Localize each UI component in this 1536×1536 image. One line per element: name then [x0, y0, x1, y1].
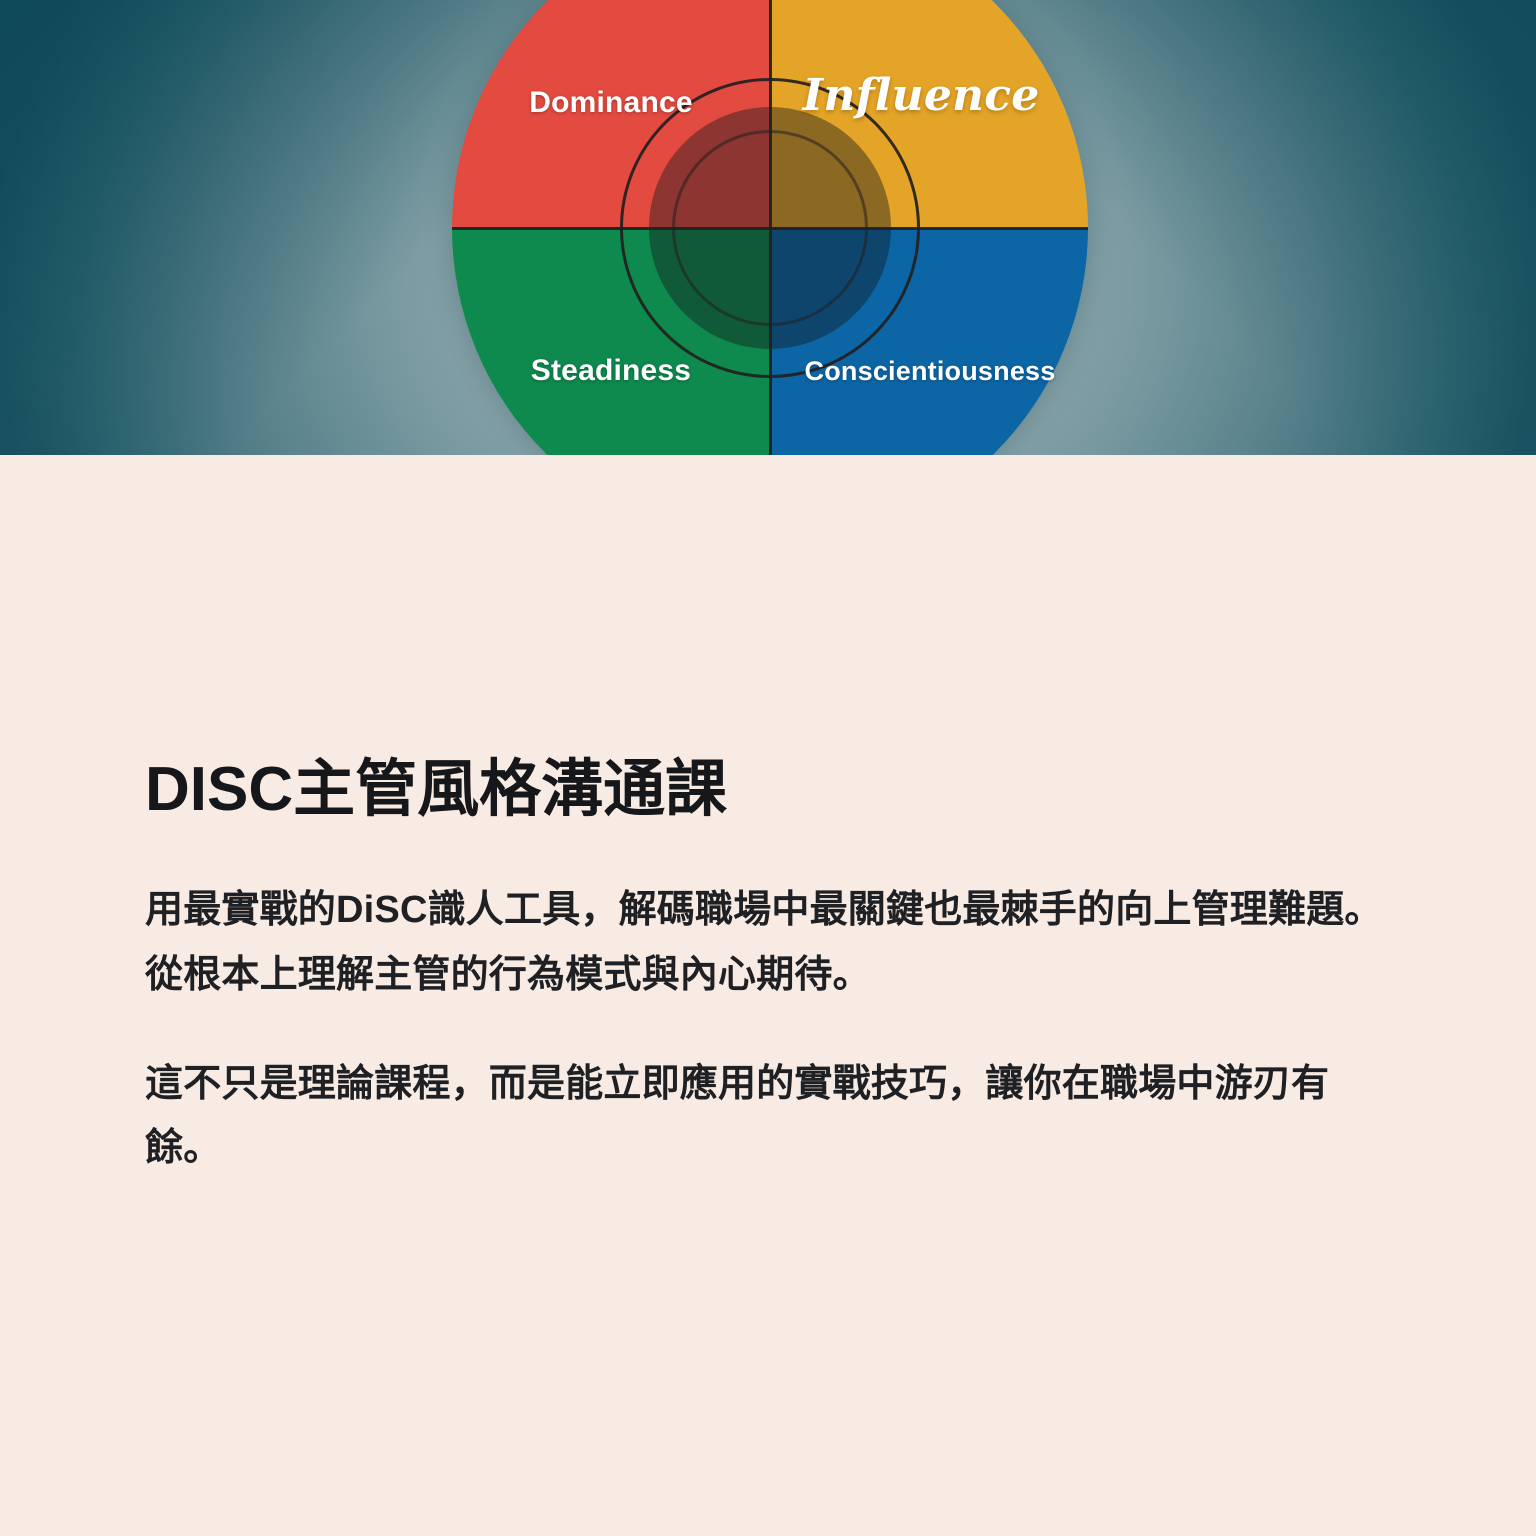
wheel-label-steadiness: Steadiness [470, 354, 752, 388]
content-container: DISC主管風格溝通課 用最實戰的DiSC識人工具，解碼職場中最關鍵也最棘手的向… [0, 455, 1536, 1181]
page-title: DISC主管風格溝通課 [145, 755, 1396, 824]
wheel-label-influence: Influence [780, 70, 1062, 121]
course-description-section: DISC主管風格溝通課 用最實戰的DiSC識人工具，解碼職場中最關鍵也最棘手的向… [0, 455, 1536, 1225]
wheel-divider-vertical [769, 0, 772, 455]
wheel-label-dominance: Dominance [470, 86, 752, 120]
description-paragraph-1: 用最實戰的DiSC識人工具，解碼職場中最關鍵也最棘手的向上管理難題。從根本上理解… [145, 878, 1396, 1007]
wheel-label-conscientiousness: Conscientiousness [780, 356, 1080, 387]
description-paragraph-2: 這不只是理論課程，而是能立即應用的實戰技巧，讓你在職場中游刃有餘。 [145, 1052, 1396, 1181]
hero-banner: Dominance Influence Steadiness Conscient… [0, 0, 1536, 455]
disc-wheel-diagram: Dominance Influence Steadiness Conscient… [452, 0, 1088, 455]
course-landing-page: Dominance Influence Steadiness Conscient… [0, 0, 1536, 1536]
